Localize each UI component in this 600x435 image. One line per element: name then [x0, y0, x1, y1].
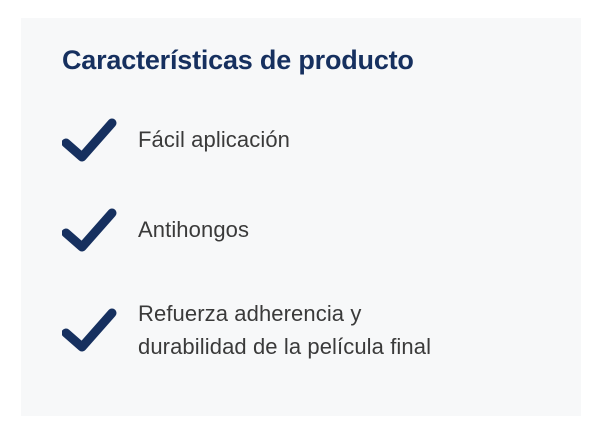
- product-features-card: Características de producto Fácil aplica…: [21, 18, 581, 416]
- check-icon: [62, 117, 118, 163]
- page-title: Características de producto: [62, 45, 414, 76]
- list-item-line: Antihongos: [138, 213, 562, 246]
- list-item-line: Fácil aplicación: [138, 123, 562, 156]
- list-item: Fácil aplicación: [62, 104, 562, 176]
- list-item: Antihongos: [62, 194, 562, 266]
- list-item-label: Antihongos: [138, 213, 562, 246]
- check-icon: [62, 207, 118, 253]
- list-item-line: Refuerza adherencia y: [138, 297, 562, 330]
- list-item: Refuerza adherencia y durabilidad de la …: [62, 280, 562, 380]
- list-item-label: Refuerza adherencia y durabilidad de la …: [138, 297, 562, 364]
- list-item-label: Fácil aplicación: [138, 123, 562, 156]
- list-item-line: durabilidad de la película final: [138, 330, 562, 363]
- check-icon: [62, 307, 118, 353]
